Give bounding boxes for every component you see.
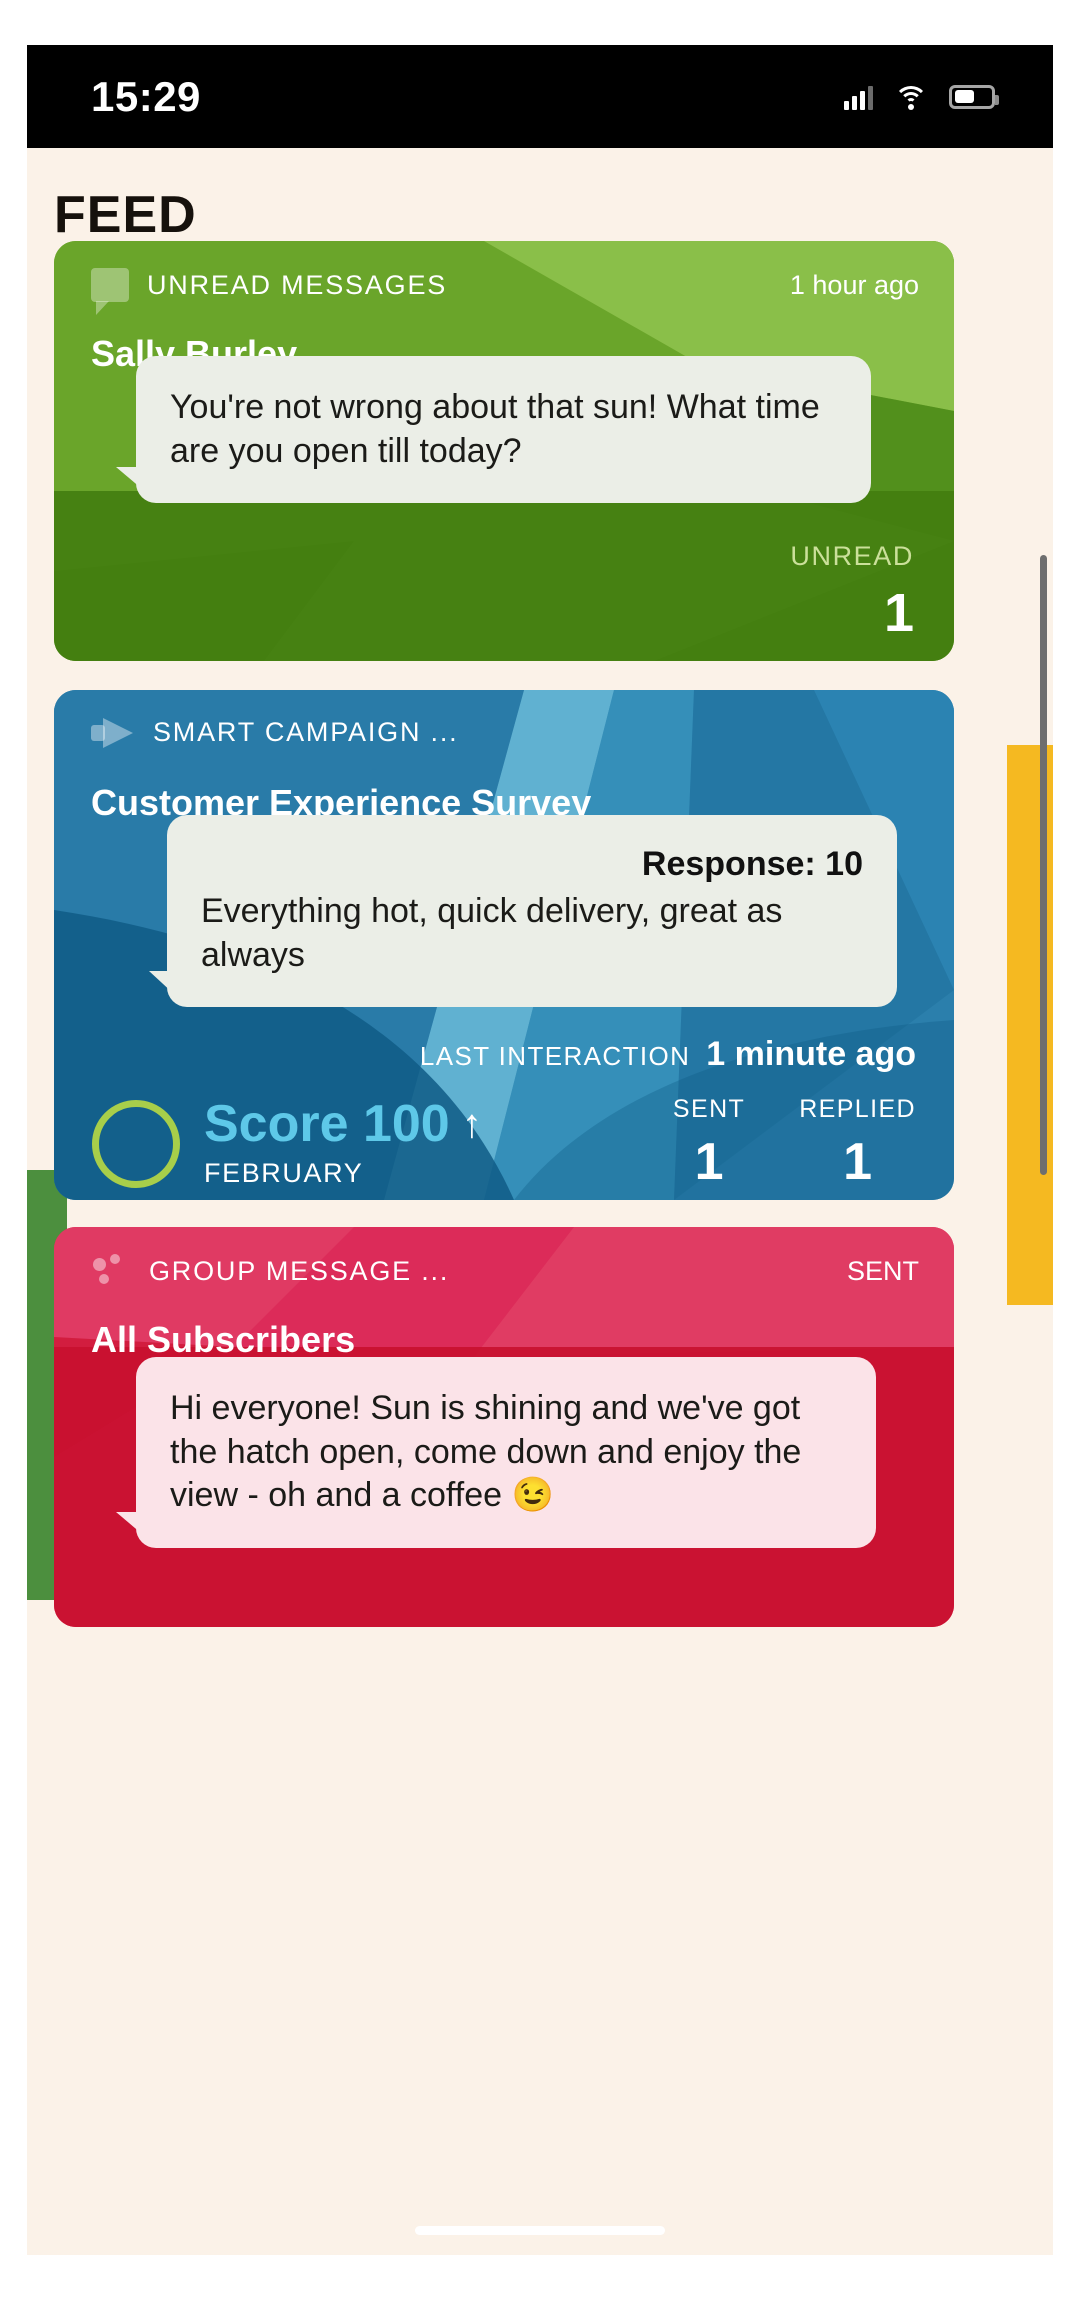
stat-sent: SENT 1: [673, 1095, 745, 1192]
score-ring-icon: [92, 1100, 180, 1188]
unread-label: UNREAD: [790, 541, 914, 572]
card-timestamp: 1 hour ago: [790, 270, 919, 301]
card-header: SMART CAMPAIGN ...: [91, 717, 919, 748]
stat-replied-label: REPLIED: [799, 1095, 916, 1124]
campaign-stats: SENT 1 REPLIED 1: [673, 1095, 916, 1192]
unread-value: 1: [790, 582, 914, 644]
status-bar-clock: 15:29: [91, 73, 201, 121]
message-text: Hi everyone! Sun is shining and we've go…: [170, 1387, 842, 1518]
card-header: UNREAD MESSAGES 1 hour ago: [91, 268, 919, 302]
group-dots-icon: [91, 1254, 131, 1288]
last-interaction-label: LAST INTERACTION: [420, 1041, 690, 1072]
wifi-icon: [894, 84, 928, 110]
card-kind-label: UNREAD MESSAGES: [147, 270, 447, 301]
audience-name: All Subscribers: [91, 1319, 355, 1361]
response-score-label: Response: 10: [201, 845, 863, 884]
score-trend-up-icon: ↑: [462, 1104, 482, 1144]
card-kind-label: SMART CAMPAIGN ...: [153, 717, 458, 748]
status-bar-icons: [844, 84, 995, 110]
card-status: SENT: [847, 1256, 919, 1287]
card-group-message[interactable]: GROUP MESSAGE ... SENT All Subscribers H…: [54, 1227, 954, 1627]
card-smart-campaign[interactable]: SMART CAMPAIGN ... Customer Experience S…: [54, 690, 954, 1200]
battery-icon: [949, 85, 995, 109]
last-interaction-value: 1 minute ago: [706, 1035, 916, 1074]
score-block: Score 100 ↑ FEBRUARY: [204, 1098, 482, 1189]
stat-replied-value: 1: [799, 1132, 916, 1192]
score-row: Score 100 ↑ FEBRUARY SENT 1 REPLIED 1: [92, 1095, 916, 1192]
vertical-scrollbar[interactable]: [1040, 555, 1047, 1175]
card-unread-messages[interactable]: UNREAD MESSAGES 1 hour ago Sally Burley …: [54, 241, 954, 661]
page-title: FEED: [54, 185, 197, 245]
megaphone-icon: [91, 718, 135, 748]
card-kind-label: GROUP MESSAGE ...: [149, 1256, 449, 1287]
score-label: Score 100: [204, 1098, 450, 1150]
screen-root: 15:29 FEED: [0, 0, 1080, 2300]
unread-counter: UNREAD 1: [790, 541, 914, 644]
cellular-signal-icon: [844, 84, 873, 110]
stat-replied: REPLIED 1: [799, 1095, 916, 1192]
status-bar: 15:29: [27, 45, 1053, 148]
response-text: Everything hot, quick delivery, great as…: [201, 890, 863, 977]
home-indicator[interactable]: [415, 2226, 665, 2235]
stat-sent-label: SENT: [673, 1095, 745, 1124]
stat-sent-value: 1: [673, 1132, 745, 1192]
response-bubble[interactable]: Response: 10 Everything hot, quick deliv…: [167, 815, 897, 1007]
chat-bubble-icon: [91, 268, 129, 302]
phone-viewport: 15:29 FEED: [27, 45, 1053, 2255]
message-text: You're not wrong about that sun! What ti…: [170, 386, 837, 473]
card-header: GROUP MESSAGE ... SENT: [91, 1254, 919, 1288]
message-bubble[interactable]: You're not wrong about that sun! What ti…: [136, 356, 871, 503]
score-period: FEBRUARY: [204, 1158, 482, 1189]
message-bubble[interactable]: Hi everyone! Sun is shining and we've go…: [136, 1357, 876, 1548]
last-interaction: LAST INTERACTION 1 minute ago: [420, 1035, 916, 1074]
